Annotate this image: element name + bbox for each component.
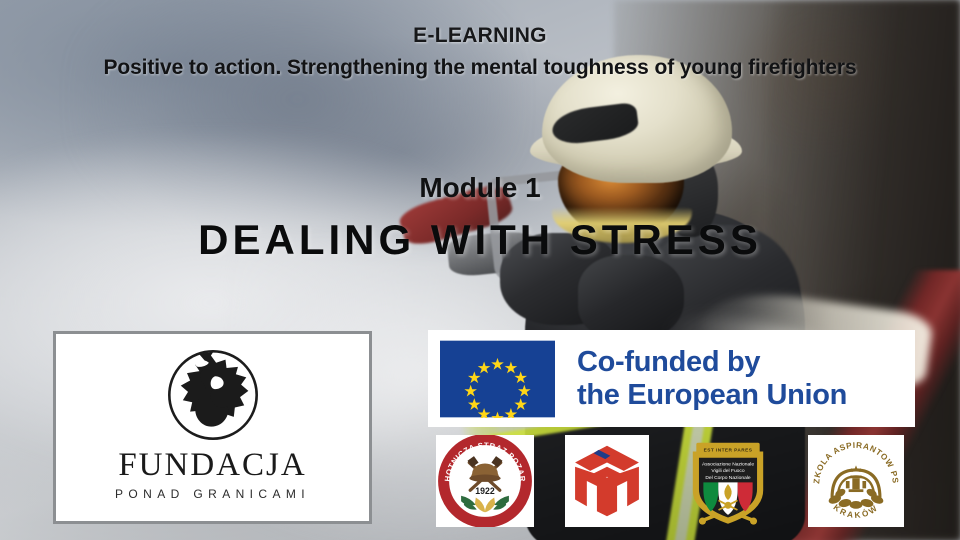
svg-text:1922: 1922 — [475, 486, 495, 496]
eu-flag-icon — [440, 340, 555, 418]
globe-icon — [161, 343, 265, 447]
program-label: E-LEARNING — [0, 24, 960, 48]
foundation-logo-panel: FUNDACJA PONAD GRANICAMI — [53, 331, 372, 524]
partner-logos-row: OCHOTNICZA STRAZ POZARNA · WEGRZCE · 192… — [428, 435, 920, 535]
module-title: DEALING WITH STRESS — [0, 216, 960, 264]
svg-text:Associazione Nazionale: Associazione Nazionale — [702, 462, 754, 468]
partner-logo-anvvf: EST INTER PARES Associazione Nazionale V… — [684, 435, 772, 535]
eu-cofunding-banner: Co-funded by the European Union — [428, 330, 915, 427]
eu-funding-text: Co-funded by the European Union — [577, 346, 847, 411]
svg-text:1952: 1952 — [759, 483, 763, 490]
foundation-tagline: PONAD GRANICAMI — [115, 487, 310, 501]
eu-funding-line1: Co-funded by — [577, 346, 847, 378]
partner-logo-osp-wegrzce: OCHOTNICZA STRAZ POZARNA · WEGRZCE · 192… — [436, 435, 534, 527]
partner-logo-szkola-aspirantow-psp: SZKOLA ASPIRANTOW PSP · KRAKÓW · — [808, 435, 904, 527]
eu-funding-line2: the European Union — [577, 379, 847, 411]
module-number: Module 1 — [0, 172, 960, 204]
project-subtitle: Positive to action. Strengthening the me… — [0, 56, 960, 80]
partner-logo-red-cube — [565, 435, 649, 527]
svg-text:FONDAZIONALE: FONDAZIONALE — [693, 474, 697, 499]
svg-text:Vigili del Fuoco: Vigili del Fuoco — [711, 468, 744, 474]
foundation-name: FUNDACJA — [118, 449, 306, 482]
svg-text:Del Corpo Nazionale: Del Corpo Nazionale — [705, 475, 751, 481]
presentation-slide: E-LEARNING Positive to action. Strengthe… — [0, 0, 960, 540]
